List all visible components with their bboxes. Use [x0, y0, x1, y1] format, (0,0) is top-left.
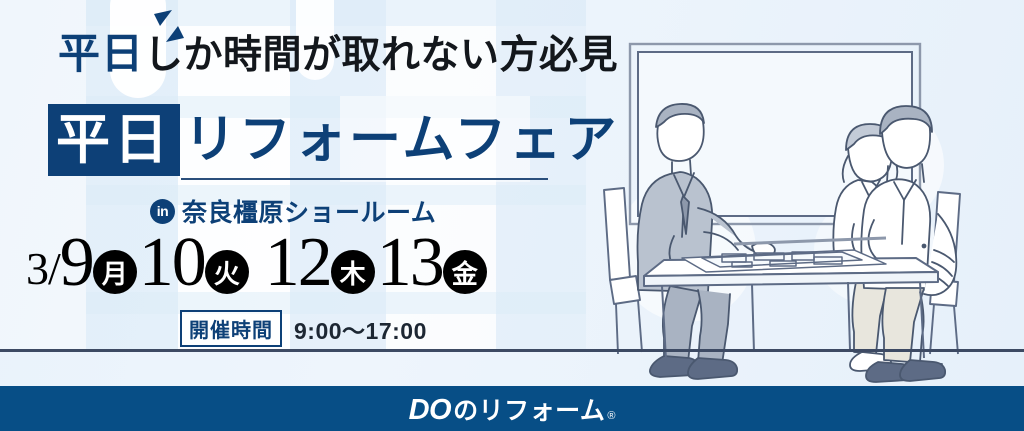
date-dow-2: 木 [331, 250, 375, 294]
date-month: 3/ [26, 246, 60, 292]
in-badge-icon: in [150, 199, 175, 224]
headline-rest: しか時間が取れない方必見 [144, 34, 618, 77]
event-title-badge: 平日 [48, 104, 180, 176]
brand-logo: DO のリフォーム ® [409, 391, 616, 427]
logo-jp: のリフォーム [453, 391, 605, 427]
event-title-main: リフォームフェア [184, 106, 619, 176]
date-dow-3: 金 [443, 250, 487, 294]
time-label: 開催時間 [180, 310, 282, 347]
event-title-underline [181, 178, 548, 180]
date-row: 3/ 9 月 10 火 12 木 13 金 [26, 228, 489, 298]
consultation-illustration [586, 0, 1024, 386]
date-day-1: 10 [139, 228, 205, 298]
date-day-0: 9 [60, 228, 93, 298]
registered-mark-icon: ® [607, 410, 615, 422]
headline-emphasis: 平日 [58, 32, 144, 78]
date-dow-0: 月 [93, 250, 137, 294]
footer-bar: DO のリフォーム ® [0, 386, 1024, 431]
date-dow-1: 火 [205, 250, 249, 294]
time-row: 開催時間 9:00〜17:00 [180, 310, 427, 347]
event-title: 平日 リフォームフェア [48, 104, 548, 184]
copy-block: 平日しか時間が取れない方必見 平日 リフォームフェア in 奈良橿原ショールーム… [0, 0, 600, 350]
date-day-2: 12 [265, 228, 331, 298]
date-day-3: 13 [377, 228, 443, 298]
promo-banner: 平日しか時間が取れない方必見 平日 リフォームフェア in 奈良橿原ショールーム… [0, 0, 1024, 431]
time-value: 9:00〜17:00 [294, 312, 427, 346]
headline-primary: 平日しか時間が取れない方必見 [58, 34, 618, 76]
logo-do: DO [409, 394, 452, 427]
